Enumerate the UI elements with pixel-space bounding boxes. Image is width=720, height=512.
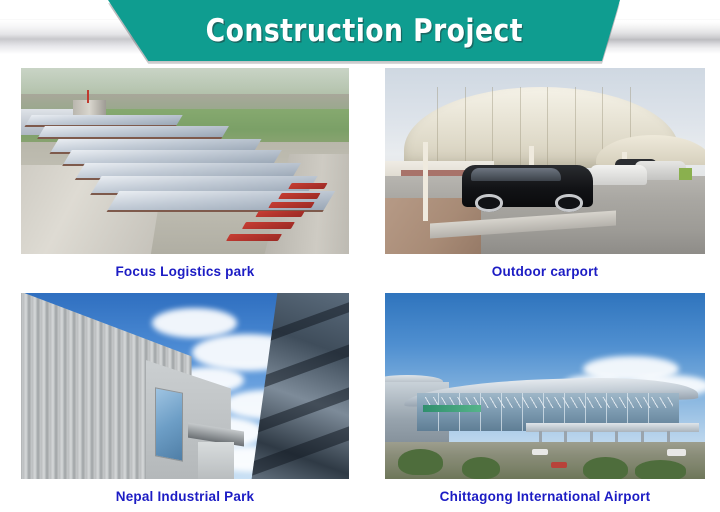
gallery-caption-1: Outdoor carport (371, 264, 719, 279)
chittagong-airport-photo[interactable] (385, 293, 705, 479)
gallery-caption-2: Nepal Industrial Park (11, 489, 359, 504)
outdoor-carport-photo[interactable] (385, 68, 705, 254)
page-title: Construction Project (50, 0, 669, 61)
gallery-item-1[interactable]: Outdoor carport (371, 68, 719, 285)
gallery-caption-3: Chittagong International Airport (371, 489, 719, 504)
gallery-item-2[interactable]: Nepal Industrial Park (11, 293, 359, 510)
page-header: Construction Project (0, 0, 720, 68)
gallery-item-0[interactable]: Focus Logistics park (11, 68, 359, 285)
gallery-item-3[interactable]: Chittagong International Airport (371, 293, 719, 510)
nepal-industrial-park-photo[interactable] (21, 293, 349, 479)
gallery-gutter-col (359, 68, 371, 285)
aerial-logistics-park-photo[interactable] (21, 68, 349, 254)
gallery-caption-0: Focus Logistics park (11, 264, 359, 279)
gallery-gutter-row (11, 285, 359, 293)
gallery-gutter-col-2 (359, 293, 371, 510)
gallery-gutter-center (359, 285, 371, 293)
gallery-gutter-row-2 (371, 285, 719, 293)
project-gallery: Focus Logistics park (0, 68, 720, 512)
